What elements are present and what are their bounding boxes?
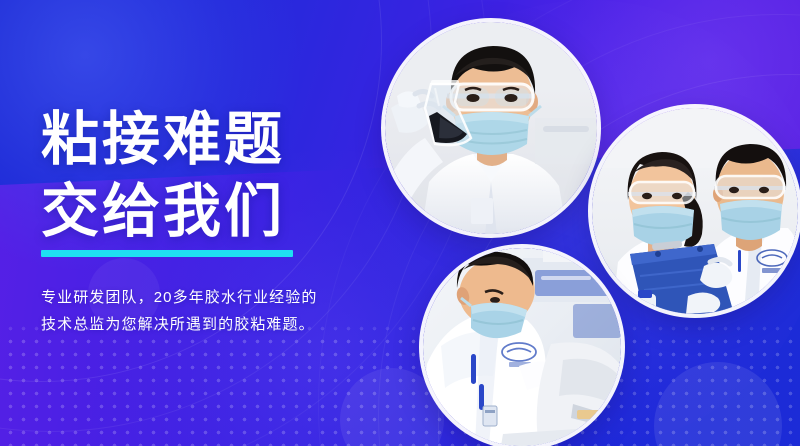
- hero-subtitle: 专业研发团队，20多年胶水行业经验的 技术总监为您解决所遇到的胶粘难题。: [41, 284, 318, 338]
- photo-two-technicians-clipboard: [592, 108, 798, 314]
- scientist-holding-flask-image: [385, 22, 597, 234]
- technician-applying-adhesive-image: [423, 248, 621, 446]
- photo-technician-applying-adhesive: [423, 248, 621, 446]
- headline-line-1: 粘接难题: [41, 104, 318, 176]
- hero-text-block: 粘接难题 交给我们 专业研发团队，20多年胶水行业经验的 技术总监为您解决所遇到…: [41, 104, 318, 338]
- headline-underline-accent: [41, 250, 293, 257]
- two-technicians-clipboard-image: [592, 108, 798, 314]
- subtitle-line-1: 专业研发团队，20多年胶水行业经验的: [41, 284, 318, 311]
- hero-banner: 粘接难题 交给我们 专业研发团队，20多年胶水行业经验的 技术总监为您解决所遇到…: [0, 0, 800, 446]
- headline-line-2: 交给我们: [41, 176, 318, 248]
- subtitle-line-2: 技术总监为您解决所遇到的胶粘难题。: [41, 311, 318, 338]
- photo-scientist-holding-flask: [385, 22, 597, 234]
